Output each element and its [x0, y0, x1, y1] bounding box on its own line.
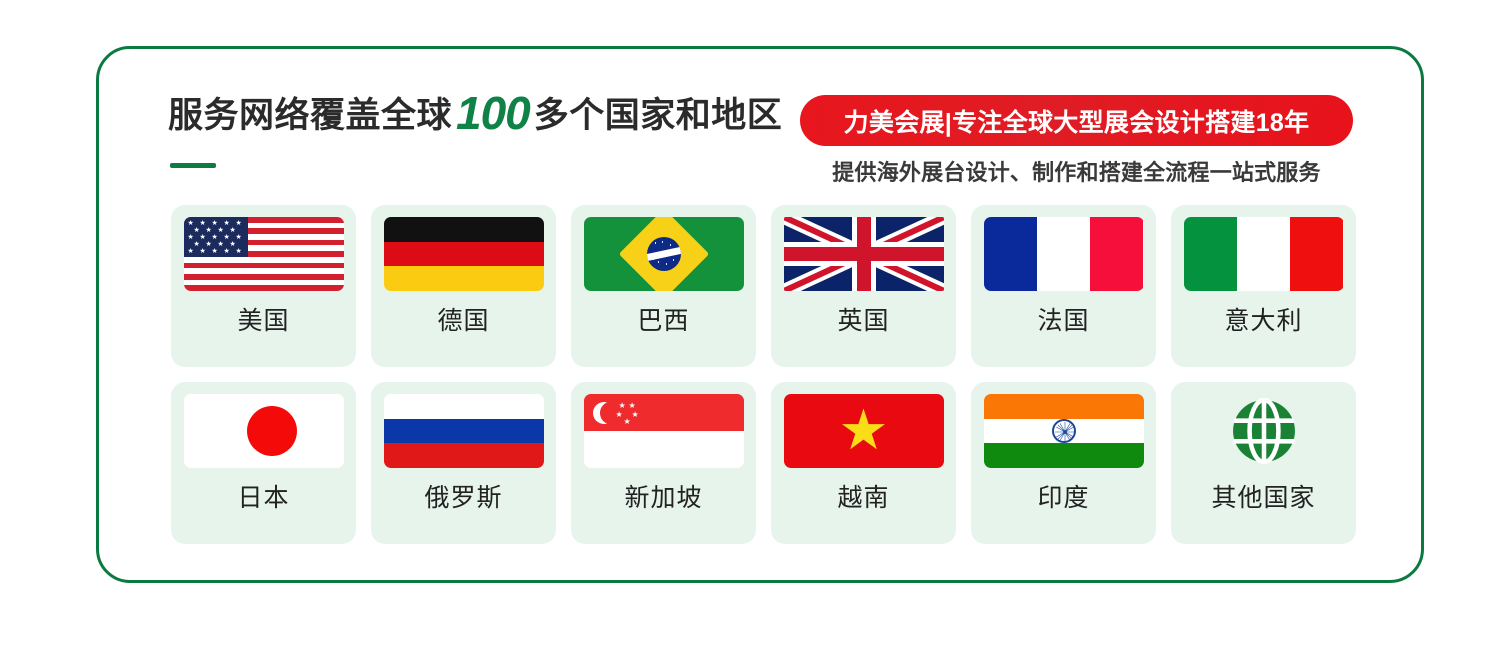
country-card-fr[interactable]: 法国 — [971, 205, 1156, 367]
page-title-prefix: 服务网络覆盖全球 — [168, 96, 452, 135]
flag-jp-icon — [184, 394, 344, 468]
country-label: 越南 — [837, 486, 889, 511]
jp-sun-disc — [247, 406, 297, 456]
flag-in-icon — [984, 394, 1144, 468]
country-label: 巴西 — [637, 309, 689, 334]
country-card-us[interactable]: ★★★★★ ★★★★ ★★★★★ ★★★★ ★★★★★ 美国 — [171, 205, 356, 367]
vn-star-icon: ★ — [838, 402, 888, 458]
flag-br-icon — [584, 217, 744, 291]
country-card-jp[interactable]: 日本 — [171, 382, 356, 544]
country-card-ru[interactable]: 俄罗斯 — [371, 382, 556, 544]
br-globe — [647, 237, 681, 271]
country-card-br[interactable]: 巴西 — [571, 205, 756, 367]
country-card-it[interactable]: 意大利 — [1171, 205, 1356, 367]
country-card-uk[interactable]: 英国 — [771, 205, 956, 367]
page-title-suffix: 多个国家和地区 — [534, 96, 783, 135]
flag-fr-icon — [984, 217, 1144, 291]
de-bands — [384, 217, 544, 291]
country-label: 美国 — [237, 309, 289, 334]
country-label: 意大利 — [1224, 309, 1302, 334]
promo-badge: 力美会展|专注全球大型展会设计搭建18年 — [800, 95, 1353, 146]
country-label: 德国 — [437, 309, 489, 334]
country-label: 英国 — [837, 309, 889, 334]
in-ashoka-chakra-icon — [1052, 419, 1076, 443]
ru-bands — [384, 394, 544, 468]
flag-sg-icon: ★ ★ ★ ★ ★ — [584, 394, 744, 468]
country-label: 俄罗斯 — [424, 486, 502, 511]
promo-subtitle: 提供海外展台设计、制作和搭建全流程一站式服务 — [800, 155, 1353, 187]
promo-badge-text: 力美会展|专注全球大型展会设计搭建18年 — [844, 103, 1310, 139]
flag-it-icon — [1184, 217, 1344, 291]
country-grid: ★★★★★ ★★★★ ★★★★★ ★★★★ ★★★★★ 美国 德国 — [171, 205, 1356, 544]
country-label: 日本 — [237, 486, 289, 511]
country-card-de[interactable]: 德国 — [371, 205, 556, 367]
page-title-number: 100 — [452, 87, 534, 139]
country-label: 新加坡 — [624, 486, 702, 511]
page-root: 服务网络覆盖全球100多个国家和地区 力美会展|专注全球大型展会设计搭建18年 … — [0, 0, 1504, 645]
country-card-in[interactable]: 印度 — [971, 382, 1156, 544]
sg-crescent — [593, 402, 615, 424]
flag-us-icon: ★★★★★ ★★★★ ★★★★★ ★★★★ ★★★★★ — [184, 217, 344, 291]
page-title: 服务网络覆盖全球100多个国家和地区 — [168, 90, 782, 136]
country-card-other[interactable]: 其他国家 — [1171, 382, 1356, 544]
uk-union-jack — [784, 217, 944, 291]
flag-ru-icon — [384, 394, 544, 468]
flag-uk-icon — [784, 217, 944, 291]
it-bands — [1184, 217, 1344, 291]
flag-vn-icon: ★ — [784, 394, 944, 468]
country-label: 印度 — [1037, 486, 1089, 511]
country-label: 法国 — [1037, 309, 1089, 334]
flag-de-icon — [384, 217, 544, 291]
fr-bands — [984, 217, 1144, 291]
sg-white-band — [584, 431, 744, 468]
country-card-sg[interactable]: ★ ★ ★ ★ ★ 新加坡 — [571, 382, 756, 544]
us-canton: ★★★★★ ★★★★ ★★★★★ ★★★★ ★★★★★ — [184, 217, 248, 257]
country-label: 其他国家 — [1211, 486, 1315, 511]
globe-icon — [1184, 394, 1344, 468]
country-card-vn[interactable]: ★ 越南 — [771, 382, 956, 544]
title-underline — [170, 163, 216, 168]
